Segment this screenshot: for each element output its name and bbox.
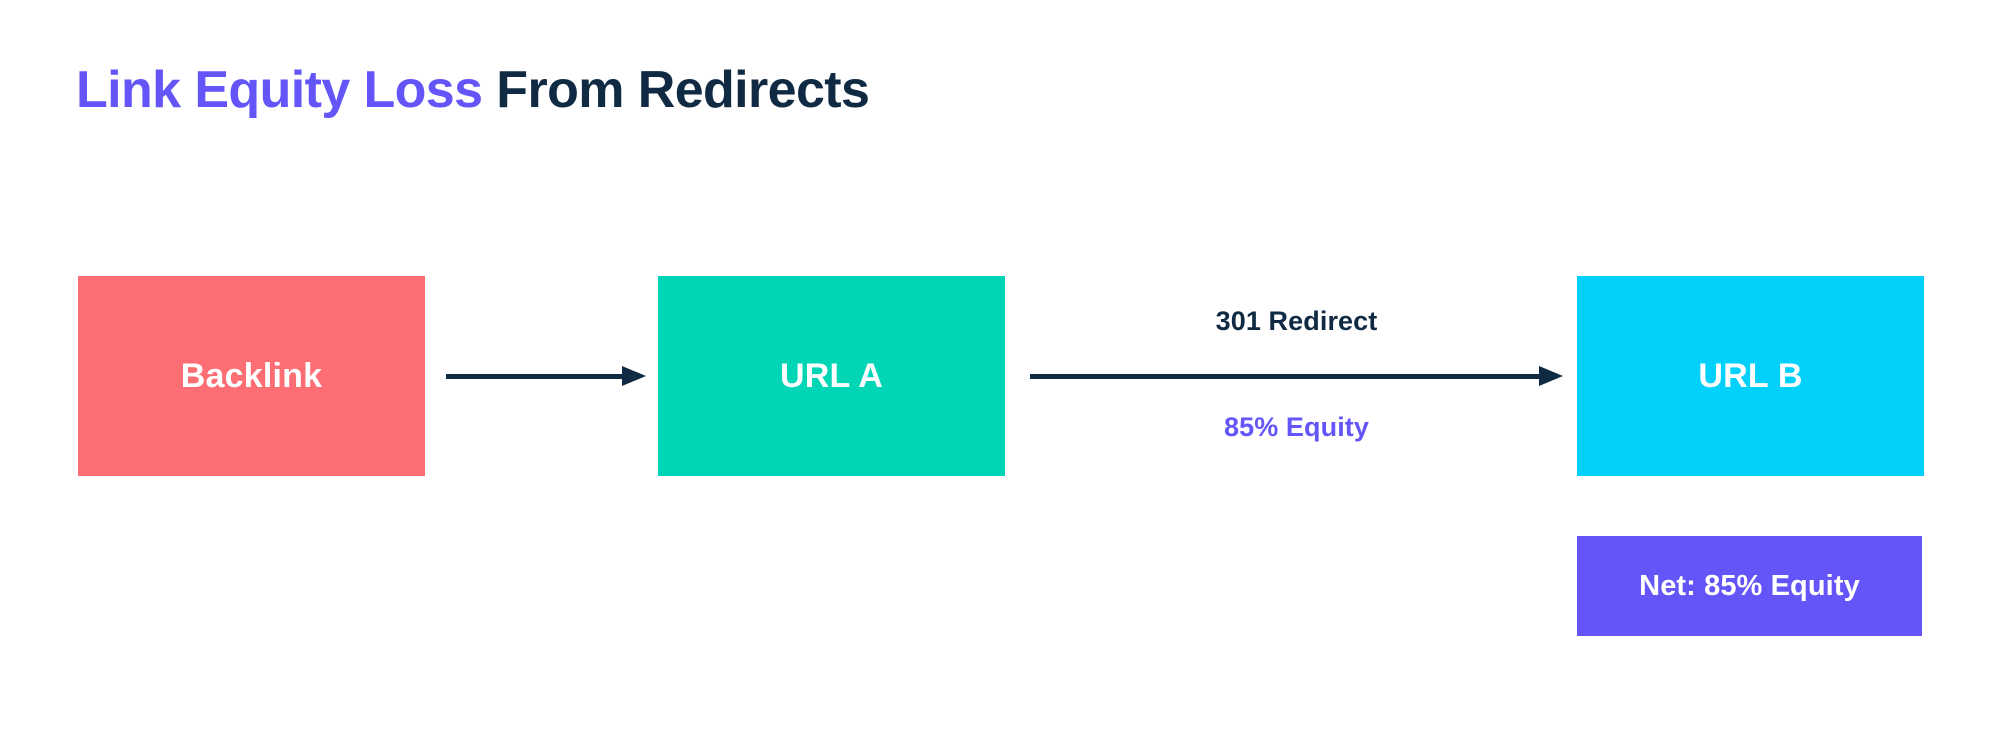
page-title-accent: Link Equity Loss: [76, 61, 482, 119]
edge-label-301-redirect: 301 Redirect: [1030, 306, 1563, 337]
node-backlink-label: Backlink: [181, 357, 322, 396]
arrow-shaft: [446, 374, 624, 379]
node-url-a[interactable]: URL A: [658, 276, 1005, 476]
arrow-url-a-to-url-b: [1030, 369, 1563, 383]
page-title: Link Equity Loss From Redirects: [76, 58, 869, 122]
arrow-shaft: [1030, 374, 1541, 379]
net-equity-badge: Net: 85% Equity: [1577, 536, 1922, 636]
edge-label-85-percent-equity: 85% Equity: [1030, 412, 1563, 443]
node-url-a-label: URL A: [780, 357, 883, 396]
arrow-backlink-to-url-a: [446, 369, 646, 383]
page-title-rest: From Redirects: [482, 61, 869, 119]
arrow-head-icon: [622, 366, 646, 386]
node-backlink[interactable]: Backlink: [78, 276, 425, 476]
node-url-b-label: URL B: [1698, 357, 1802, 396]
diagram-canvas: Link Equity Loss From Redirects Backlink…: [0, 0, 2000, 732]
arrow-head-icon: [1539, 366, 1563, 386]
net-equity-badge-label: Net: 85% Equity: [1639, 570, 1860, 603]
node-url-b[interactable]: URL B: [1577, 276, 1924, 476]
